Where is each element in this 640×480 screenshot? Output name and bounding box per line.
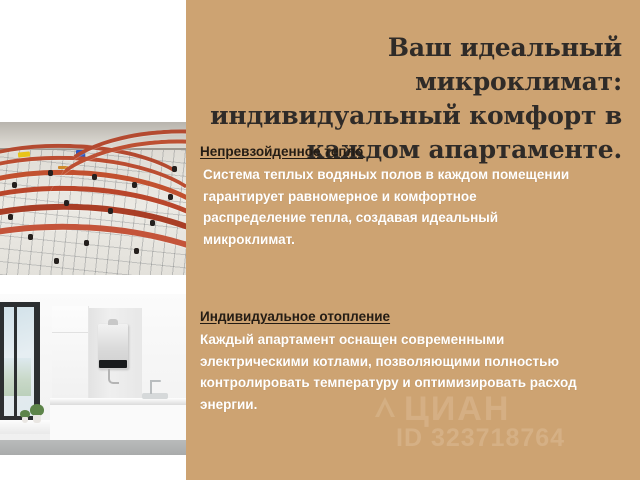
title-line-1: Ваш идеальный микроклимат: [202,31,622,99]
pipe-clip [92,174,97,180]
promo-slide: Ваш идеальный микроклимат: индивидуальны… [0,0,640,480]
pipe-clip [168,194,173,200]
cabinet-seam [52,332,88,333]
body-line: энергии. [200,394,636,416]
window-view [3,358,31,396]
window-mullion [14,302,17,422]
base-cabinet [86,405,123,444]
pipe-clip [134,248,139,254]
pipe-clip [12,182,17,188]
pipe-clip [8,214,13,220]
window-frame-top [0,302,40,307]
faucet-spout [150,380,161,382]
body-line: Система теплых водяных полов в каждом по… [200,164,636,186]
section-body: Система теплых водяных полов в каждом по… [200,164,636,250]
base-cabinet [156,405,186,444]
countertop [50,398,186,405]
window-frame-left [0,302,4,422]
boiler-flue [108,319,118,325]
base-cabinet [50,405,87,444]
pipe-clip [150,220,155,226]
pipe-clip [64,200,69,206]
pipe-clip [108,208,113,214]
boiler-control-panel [99,360,127,368]
section-heading: Непревзойденное тепло [200,143,636,160]
kitchen-sink [142,393,168,399]
pipe-clip [132,182,137,188]
upper-cabinet [52,306,89,398]
body-line: гарантирует равномерное и комфортное [200,186,636,208]
pipe-clip [84,240,89,246]
boiler-pipe [108,369,119,384]
plant-pot [33,415,41,423]
faucet-stem [150,380,152,394]
plant-pot [22,417,28,423]
section-body: Каждый апартамент оснащен современными э… [200,329,636,415]
content-panel: Ваш идеальный микроклимат: индивидуальны… [186,0,640,480]
photo-column [0,0,186,480]
pipe-clip [172,166,177,172]
kitchen-floor [0,440,186,455]
section-heading: Индивидуальное отопление [200,308,636,325]
pipe-clip [28,234,33,240]
title-line-2: индивидуальный комфорт в [202,99,622,133]
body-line: Каждый апартамент оснащен современными [200,329,636,351]
pipe-clip [54,258,59,264]
section-underfloor-heating: Непревзойденное тепло Система теплых вод… [200,143,636,250]
section-individual-heating: Индивидуальное отопление Каждый апартаме… [200,308,636,415]
photo-underfloor-heating [0,122,186,275]
base-cabinet [122,405,157,444]
pipe-clip [48,170,53,176]
body-line: распределение тепла, создавая идеальный [200,207,636,229]
body-line: электрическими котлами, позволяющими пол… [200,351,636,373]
body-line: контролировать температуру и оптимизиров… [200,372,636,394]
body-line: микроклимат. [200,229,636,251]
photo-kitchen-boiler [0,294,186,455]
